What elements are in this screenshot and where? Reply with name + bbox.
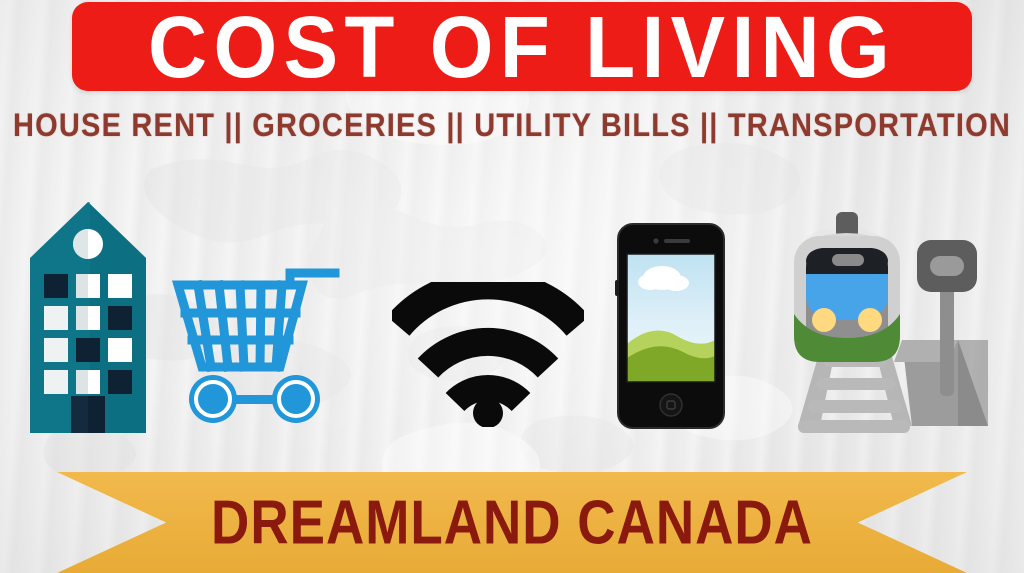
page-title: COST OF LIVING xyxy=(50,3,995,90)
train-station-icon xyxy=(762,210,992,438)
wifi-icon xyxy=(392,282,584,427)
shopping-cart-icon xyxy=(172,255,340,425)
location-name: DREAMLAND CANADA xyxy=(57,487,967,559)
location-ribbon: DREAMLAND CANADA xyxy=(57,472,967,573)
cost-of-living-poster: COST OF LIVING HOUSE RENT || GROCERIES |… xyxy=(0,0,1024,573)
title-banner: COST OF LIVING xyxy=(72,2,972,91)
subtitle-categories: HOUSE RENT || GROCERIES || UTILITY BILLS… xyxy=(0,108,1024,145)
apartment-building-icon xyxy=(28,200,148,435)
smartphone-icon xyxy=(612,222,730,430)
icon-row xyxy=(0,190,1024,450)
